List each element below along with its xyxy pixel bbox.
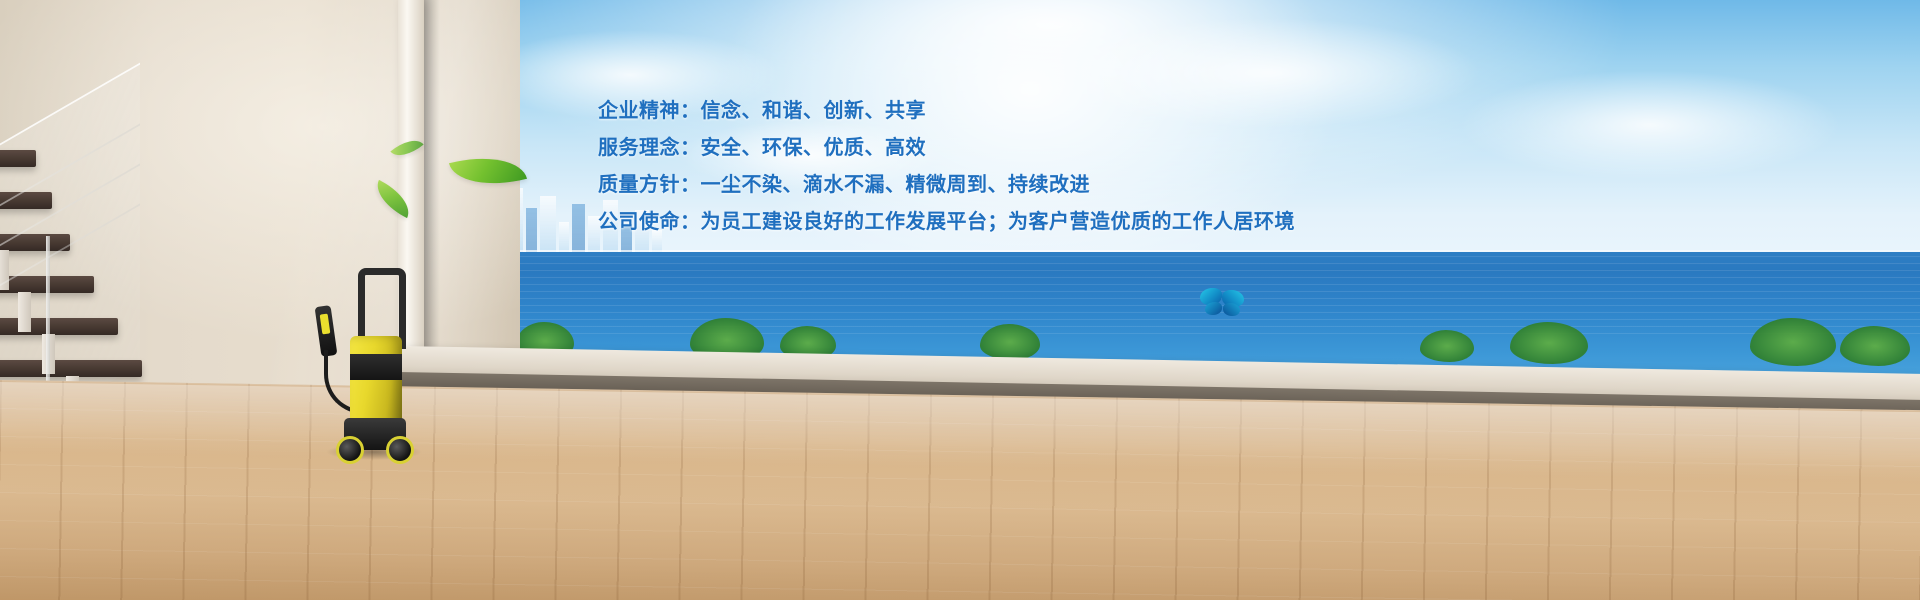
butterfly-wing-lower-left xyxy=(1205,302,1222,315)
pressure-washer xyxy=(312,258,422,458)
wheel xyxy=(336,436,364,464)
wheel xyxy=(386,436,414,464)
bush xyxy=(1420,330,1474,362)
company-culture-banner: 企业精神：信念、和谐、创新、共享 服务理念：安全、环保、优质、高效 质量方针：一… xyxy=(0,0,1920,600)
bush xyxy=(1750,318,1836,366)
slogan-block: 企业精神：信念、和谐、创新、共享 服务理念：安全、环保、优质、高效 质量方针：一… xyxy=(598,92,1295,240)
slogan-line-quality-policy: 质量方针：一尘不染、滴水不漏、精微周到、持续改进 xyxy=(598,166,1295,203)
slogan-line-service-philosophy: 服务理念：安全、环保、优质、高效 xyxy=(598,129,1295,166)
stair-riser xyxy=(18,292,31,332)
slogan-line-company-mission: 公司使命：为员工建设良好的工作发展平台；为客户营造优质的工作人居环境 xyxy=(598,203,1295,240)
mural-frame-shadow xyxy=(424,0,440,372)
butterfly xyxy=(1200,288,1246,328)
stair-tread xyxy=(0,360,142,377)
pressure-washer-panel xyxy=(350,354,402,380)
bush xyxy=(1840,326,1910,366)
butterfly-wing-lower-right xyxy=(1223,303,1240,316)
bush xyxy=(1510,322,1588,364)
slogan-line-corporate-spirit: 企业精神：信念、和谐、创新、共享 xyxy=(598,92,1295,129)
stair-tread xyxy=(0,150,36,167)
bush xyxy=(980,324,1040,360)
cloud xyxy=(1460,70,1840,180)
